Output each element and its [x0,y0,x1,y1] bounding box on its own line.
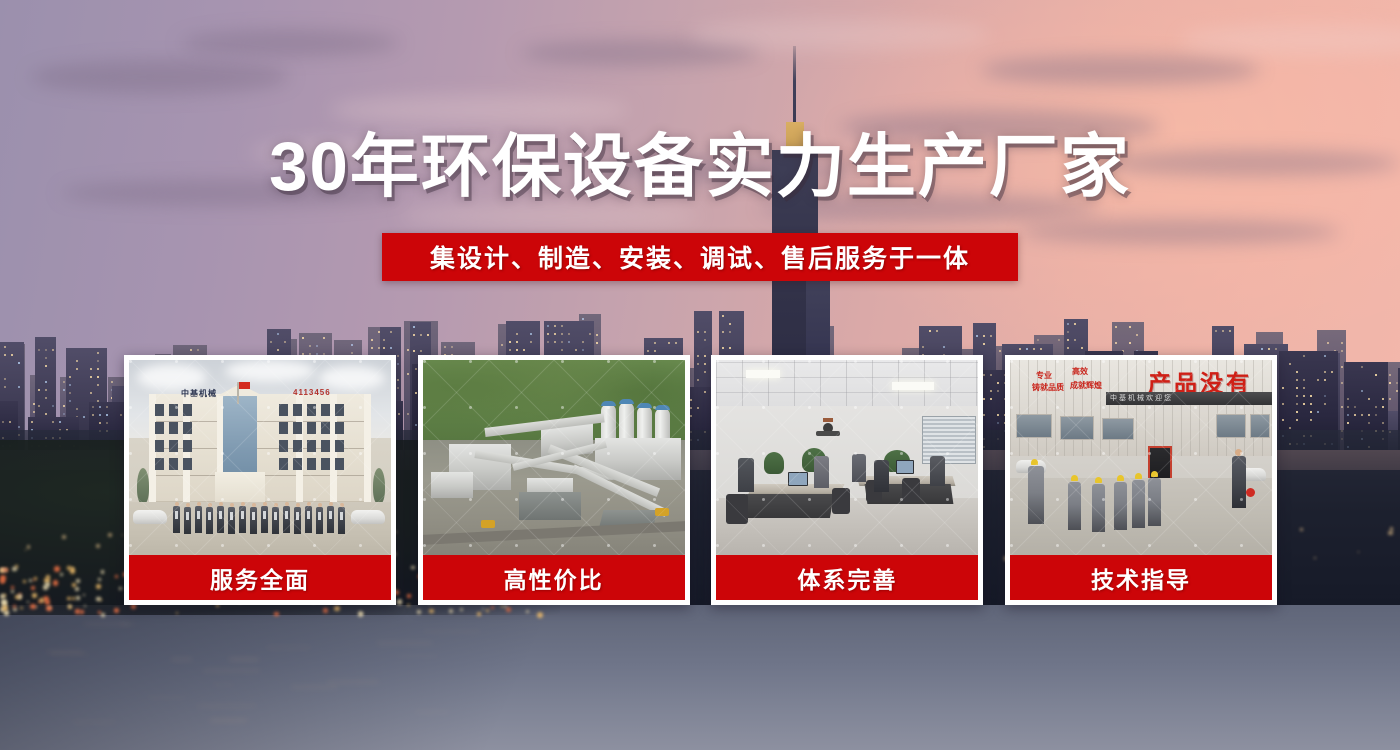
water-reflection [51,653,89,655]
watermark-node [313,406,316,409]
watermark-node [1240,360,1243,363]
shore-light [75,587,79,591]
shore-light [114,608,119,613]
photo-car [351,510,385,524]
shore-light [75,609,79,613]
watermark-node [267,406,270,409]
watermark-node [423,498,426,501]
photo-tree [137,468,149,504]
watermark-node [1148,360,1151,363]
watermark-node [469,360,472,363]
watermark-node [469,452,472,455]
feature-card-row: 中基机械 4113456 服务全面 [124,355,1277,605]
factory-window [1060,416,1094,440]
factory-banner-strip: 中基机械欢迎您 [1106,392,1272,405]
wall-slogan-small: 成就辉煌 [1070,380,1102,391]
watermark-node [423,406,426,409]
office-person [738,458,754,492]
shore-light [68,605,71,608]
watermark-node [129,544,132,547]
feature-card[interactable]: 产品没有 专业 高效 铸就品质 成就辉煌 中基机械欢迎您 [1005,355,1277,605]
water-shading [0,595,1400,750]
photo-tree [373,468,385,504]
watermark-node [515,360,518,363]
building-window [183,404,192,416]
building-window [293,404,302,416]
shore-light [1300,528,1302,530]
shore-light [32,593,37,598]
building-window [183,422,192,434]
shore-light [537,612,543,618]
plant-silo-top [619,399,634,404]
watermark-node [469,498,472,501]
watermark-node [1194,360,1197,363]
shore-light [176,612,178,614]
watermark-node [267,544,270,547]
building-window [155,422,164,434]
watermark-node [1056,360,1059,363]
building-window [183,458,192,470]
watermark-node [1010,544,1013,547]
shore-light [334,606,339,611]
building-window [169,422,178,434]
plant-silo-top [637,403,652,408]
feature-card[interactable]: 中基机械 4113456 服务全面 [124,355,396,605]
shore-light [1,581,3,583]
cloud [690,20,990,50]
shore-light [46,575,50,579]
feature-card[interactable]: 高性价比 [418,355,690,605]
watermark-node [561,360,564,363]
shore-light [1314,557,1316,559]
water-reflection [40,626,69,627]
watermark-node [1056,498,1059,501]
office-interior-photo [716,360,978,555]
water-reflection [327,681,379,684]
watermark-node [423,544,426,547]
shore-light [33,579,35,581]
staff-member [272,507,279,534]
watermark-node [359,544,362,547]
building-window [321,404,330,416]
subtitle-banner: 集设计、制造、安装、调试、售后服务于一体 [382,233,1018,281]
water-reflection [397,655,438,656]
watermark-node [221,452,224,455]
building-window [321,458,330,470]
headline-title: 30年环保设备实力生产厂家 [0,132,1400,201]
shore-light [54,566,60,572]
factory-window [1216,414,1246,438]
watermark-node [1102,452,1105,455]
water-reflection [197,705,256,707]
wall-slogan-small: 专业 [1036,370,1052,381]
watermark-node [515,452,518,455]
water-reflection [203,669,259,672]
office-person [874,460,889,492]
watermark-node [129,498,132,501]
watermark-node [1010,360,1013,363]
staff-member [250,507,257,534]
staff-member [228,507,235,534]
cloud [980,55,1260,85]
shore-light [477,612,481,616]
watermark-node [313,452,316,455]
shore-light [460,608,463,611]
building-window [293,422,302,434]
building-window [183,440,192,452]
watermark-node [1056,406,1059,409]
plant-building [431,472,473,498]
supervisor-figure [1232,456,1246,508]
watermark-node [607,498,610,501]
cloud [180,30,400,56]
watermark-node [1102,544,1105,547]
building-window [321,422,330,434]
feature-card[interactable]: 体系完善 [711,355,983,605]
office-chair [902,478,920,502]
building-window [293,440,302,452]
watermark-node [313,544,316,547]
watermark-node [221,360,224,363]
water-reflection [377,642,432,644]
shore-light [27,545,30,548]
wall-slogan-small: 高效 [1072,366,1088,377]
building-window [307,458,316,470]
building-window [155,404,164,416]
ceiling-light [746,370,780,378]
plant-shed [519,492,581,520]
photo-cloud [225,360,315,382]
shore-light [62,535,66,539]
staff-member [283,506,290,533]
watermark-node [653,406,656,409]
factory-workers-training-photo: 产品没有 专业 高效 铸就品质 成就辉煌 中基机械欢迎您 [1010,360,1272,555]
watermark-node [469,406,472,409]
watermark-node [1194,406,1197,409]
watermark-node [221,544,224,547]
watermark-node [313,360,316,363]
watermark-node [175,406,178,409]
watermark-node [653,360,656,363]
watermark-node [607,452,610,455]
shore-light [30,604,35,609]
watermark-node [1240,452,1243,455]
water-reflection [229,658,260,661]
watermark-node [267,360,270,363]
feature-card-label: 体系完善 [716,555,978,600]
staff-member [184,507,191,534]
watermark-node [653,498,656,501]
water-reflection [147,697,185,698]
factory-window [1016,414,1052,438]
cloud [330,95,630,125]
building-window [279,422,288,434]
watermark-node [607,544,610,547]
cloud [1020,220,1340,244]
watermark-node [653,544,656,547]
shore-light [27,601,29,603]
water-reflection [415,711,449,713]
shore-light [98,578,101,581]
yellow-excavator [655,508,669,516]
office-person [930,456,945,486]
factory-worker [1028,466,1044,524]
watermark-node [221,406,224,409]
wall-slogan-small: 铸就品质 [1032,382,1064,393]
shore-light [76,596,80,600]
national-flag [239,382,250,389]
shore-light [84,605,86,607]
computer-monitor [896,460,914,474]
building-window [155,458,164,470]
water-reflection [291,686,338,688]
building-window [335,440,344,452]
watermark-node [515,498,518,501]
watermark-node [1102,360,1105,363]
watermark-node [175,360,178,363]
photo-cloud [319,366,385,390]
watermark-node [1148,544,1151,547]
watermark-node [515,406,518,409]
building-window [335,422,344,434]
watermark-node [1102,498,1105,501]
building-window [279,440,288,452]
building-window [169,440,178,452]
staff-member [327,506,334,533]
staff-member [316,507,323,534]
ceiling-light [892,382,934,390]
shore-light [1388,531,1392,535]
watermark-node [175,452,178,455]
wall-decal [812,416,844,442]
factory-worker [1068,482,1081,530]
watermark-node [175,544,178,547]
watermark-node [267,452,270,455]
watermark-node [1194,544,1197,547]
building-window [307,440,316,452]
building-window [279,458,288,470]
water-reflection [171,658,192,661]
watermark-node [175,498,178,501]
shore-light [115,575,117,577]
cloud [30,60,290,94]
watermark-node [129,406,132,409]
watermark-node [653,452,656,455]
building-window [307,422,316,434]
water-reflection [266,646,312,649]
factory-window [1102,418,1134,440]
watermark-node [1240,498,1243,501]
desk-front-panel [742,494,834,518]
building-window [321,440,330,452]
watermark-node [1010,406,1013,409]
wall-decal-graphic [812,416,844,442]
building-phone-text: 4113456 [293,388,331,397]
watermark-node [1102,406,1105,409]
watermark-node [561,544,564,547]
building-window [279,404,288,416]
watermark-node [129,452,132,455]
watermark-node [1010,498,1013,501]
factory-worker [1148,478,1161,526]
watermark-node [561,452,564,455]
watermark-node [423,452,426,455]
watermark-node [1010,452,1013,455]
watermark-node [221,498,224,501]
watermark-node [129,360,132,363]
shore-light [11,586,14,589]
feature-card-label: 高性价比 [423,555,685,600]
building-sign-text: 中基机械 [181,388,217,399]
staff-member [173,506,180,533]
water-reflection [423,630,481,632]
watermark-node [1148,452,1151,455]
shore-light [96,544,100,548]
company-headquarters-photo: 中基机械 4113456 [129,360,391,555]
watermark-node [1194,452,1197,455]
shore-light [43,585,48,590]
shore-light [31,586,35,590]
watermark-node [267,498,270,501]
watermark-node [607,360,610,363]
shore-light [119,587,122,590]
building-window [169,458,178,470]
watermark-node [359,498,362,501]
feature-card-label: 服务全面 [129,555,391,600]
watermark-node [1148,406,1151,409]
watermark-node [1240,406,1243,409]
watermark-node [1056,452,1059,455]
watermark-node [1148,498,1151,501]
staff-member [239,506,246,533]
staff-member [195,506,202,533]
staff-member [294,507,301,534]
photo-plaza-ground [129,502,391,555]
watermark-node [1240,544,1243,547]
watermark-node [469,544,472,547]
shore-light [72,583,76,587]
watermark-node [561,498,564,501]
industrial-plant-aerial-photo [423,360,685,555]
building-window [293,458,302,470]
office-plant [764,452,784,474]
promo-banner: 30年环保设备实力生产厂家 集设计、制造、安装、调试、售后服务于一体 [0,0,1400,750]
water-reflection [210,719,247,722]
shore-light [60,573,63,576]
watermark-node [359,406,362,409]
subtitle-text: 集设计、制造、安装、调试、售后服务于一体 [430,239,970,275]
factory-worker [1114,482,1127,530]
shore-light [0,569,3,572]
office-chair [832,488,850,514]
building-window [335,404,344,416]
staff-member [305,506,312,533]
factory-worker [1092,484,1105,532]
watermark-node [515,544,518,547]
cloud [400,205,700,227]
shore-light [358,611,363,616]
factory-window [1250,414,1270,438]
shore-light [1390,527,1393,530]
shore-light [20,607,23,610]
photo-cloud [137,364,207,390]
building-window [335,458,344,470]
factory-banner-text: 中基机械欢迎您 [1106,392,1272,405]
photo-car [133,510,167,524]
watermark-node [561,406,564,409]
water-reflection [73,721,115,723]
staff-member [206,507,213,534]
staff-member [261,506,268,533]
office-person [852,454,866,482]
shore-light [18,594,23,599]
watermark-node [313,498,316,501]
factory-worker [1132,480,1145,528]
water-reflection [213,684,234,685]
building-window [155,440,164,452]
shore-light [5,568,8,571]
watermark-node [359,452,362,455]
watermark-node [1056,544,1059,547]
office-chair [726,494,748,524]
watermark-node [423,360,426,363]
staff-member [338,507,345,534]
office-person [814,456,829,488]
laptop-screen [788,472,808,486]
ceiling-tile-grid [716,360,978,408]
water-reflection [120,623,135,625]
plant-silo-top [655,405,670,410]
red-helmet [1246,488,1255,497]
tower-spire [793,46,796,124]
watermark-node [359,360,362,363]
watermark-node [1194,498,1197,501]
staff-member [217,506,224,533]
feature-card-label: 技术指导 [1010,555,1272,600]
watermark-node [607,406,610,409]
yellow-excavator [481,520,495,528]
